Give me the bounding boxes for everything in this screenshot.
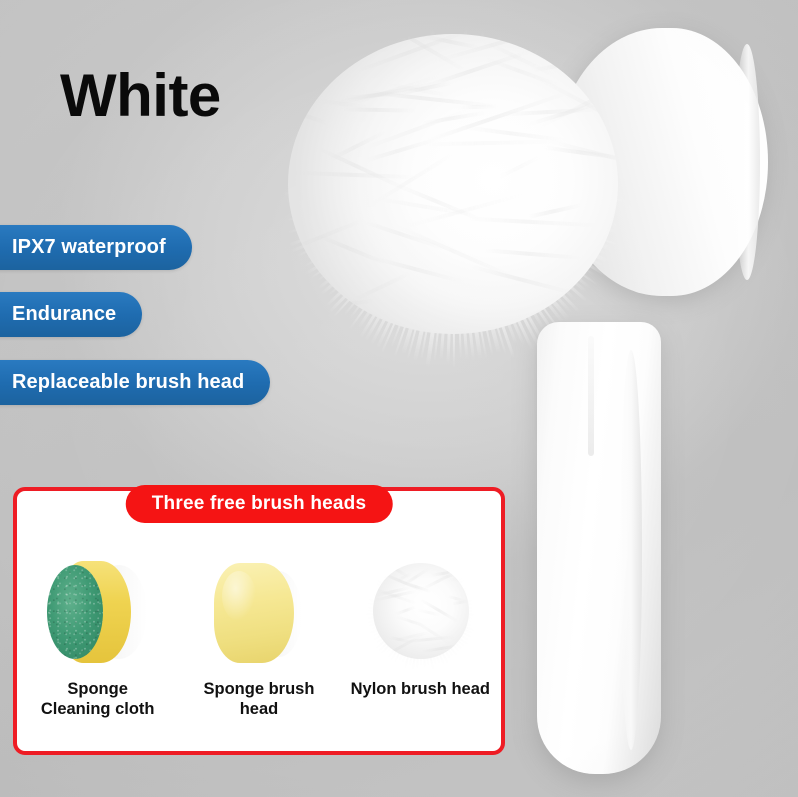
accessories-list: Sponge Cleaning cloth Sponge brush head …: [17, 553, 501, 719]
accessory-caption: Nylon brush head: [351, 679, 490, 699]
nylon-bristle-texture: [373, 563, 469, 659]
accessory-item: Sponge brush head: [184, 553, 334, 719]
feature-badge-endurance: Endurance: [0, 292, 142, 337]
sponge-cleaning-cloth-icon: [39, 553, 157, 671]
accessories-badge: Three free brush heads: [126, 485, 393, 523]
feature-badge-label: Endurance: [12, 303, 116, 326]
feature-badge-label: IPX7 waterproof: [12, 236, 166, 259]
scouring-pad: [47, 565, 103, 659]
product-marketing-image: White IPX7 waterproof Endurance Replacea…: [0, 0, 798, 797]
free-accessories-box: Three free brush heads Sponge Cleaning c…: [13, 487, 505, 755]
sponge-brush-head-icon: [200, 553, 318, 671]
feature-badge-replaceable-head: Replaceable brush head: [0, 360, 270, 405]
sponge-body: [214, 563, 294, 663]
nylon-brush-head-icon: [361, 553, 479, 671]
feature-badge-waterproof: IPX7 waterproof: [0, 225, 192, 270]
accessory-item: Nylon brush head: [345, 553, 495, 699]
accessory-item: Sponge Cleaning cloth: [23, 553, 173, 719]
feature-badge-label: Replaceable brush head: [12, 371, 244, 394]
accessory-caption: Sponge brush head: [184, 679, 334, 719]
accessory-caption: Sponge Cleaning cloth: [41, 679, 155, 719]
page-title: White: [60, 66, 221, 126]
accessories-badge-label: Three free brush heads: [152, 493, 367, 515]
